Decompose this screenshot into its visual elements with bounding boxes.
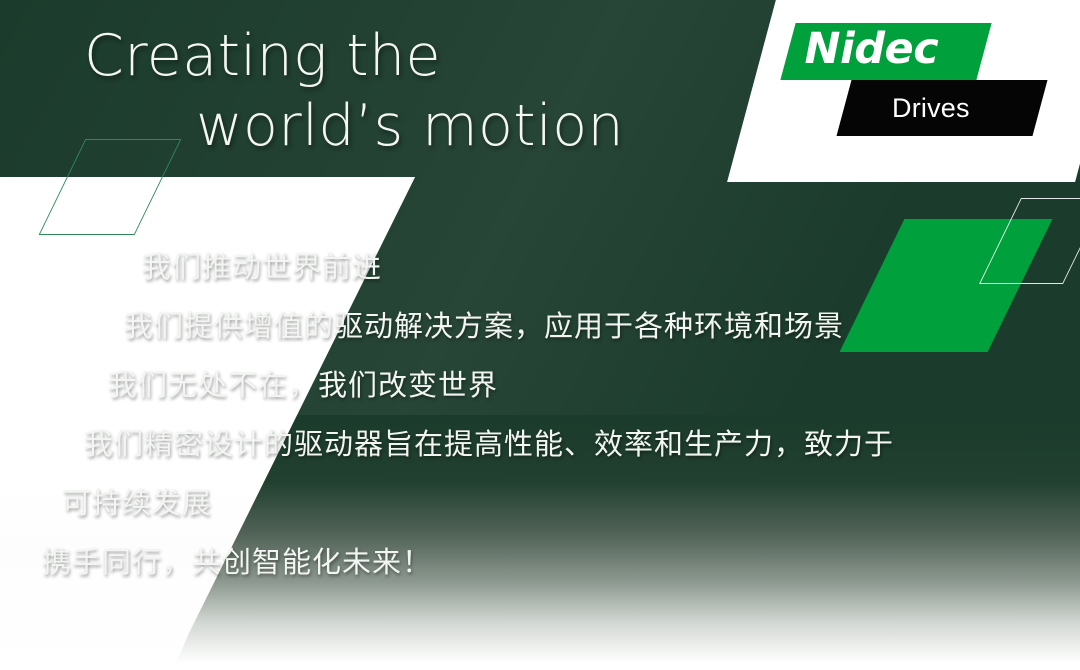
- headline-line-2: world’s motion: [0, 92, 720, 162]
- nidec-drives-banner: Creating the world’s motion Nidec Drives…: [0, 0, 1080, 670]
- body-copy: 我们推动世界前进 我们提供增值的驱动解决方案，应用于各种环境和场景 我们无处不在…: [0, 238, 1080, 592]
- headline-line-1: Creating the: [0, 22, 720, 92]
- body-line: 我们推动世界前进: [0, 238, 1080, 297]
- body-line: 我们提供增值的驱动解决方案，应用于各种环境和场景: [0, 297, 1080, 356]
- logo-green-panel: Nidec: [780, 23, 991, 80]
- body-line: 我们无处不在，我们改变世界: [0, 356, 1080, 415]
- logo-black-panel: Drives: [836, 80, 1047, 136]
- page-title: Creating the world’s motion: [0, 22, 720, 161]
- body-line: 可持续发展: [0, 474, 1080, 533]
- logo-wordmark: Nidec: [805, 23, 939, 78]
- body-line: 携手同行，共创智能化未来！: [0, 533, 1080, 592]
- body-line: 我们精密设计的驱动器旨在提高性能、效率和生产力，致力于: [0, 415, 1080, 474]
- logo-sublabel: Drives: [892, 80, 970, 136]
- nidec-drives-logo: Nidec Drives: [752, 0, 1080, 182]
